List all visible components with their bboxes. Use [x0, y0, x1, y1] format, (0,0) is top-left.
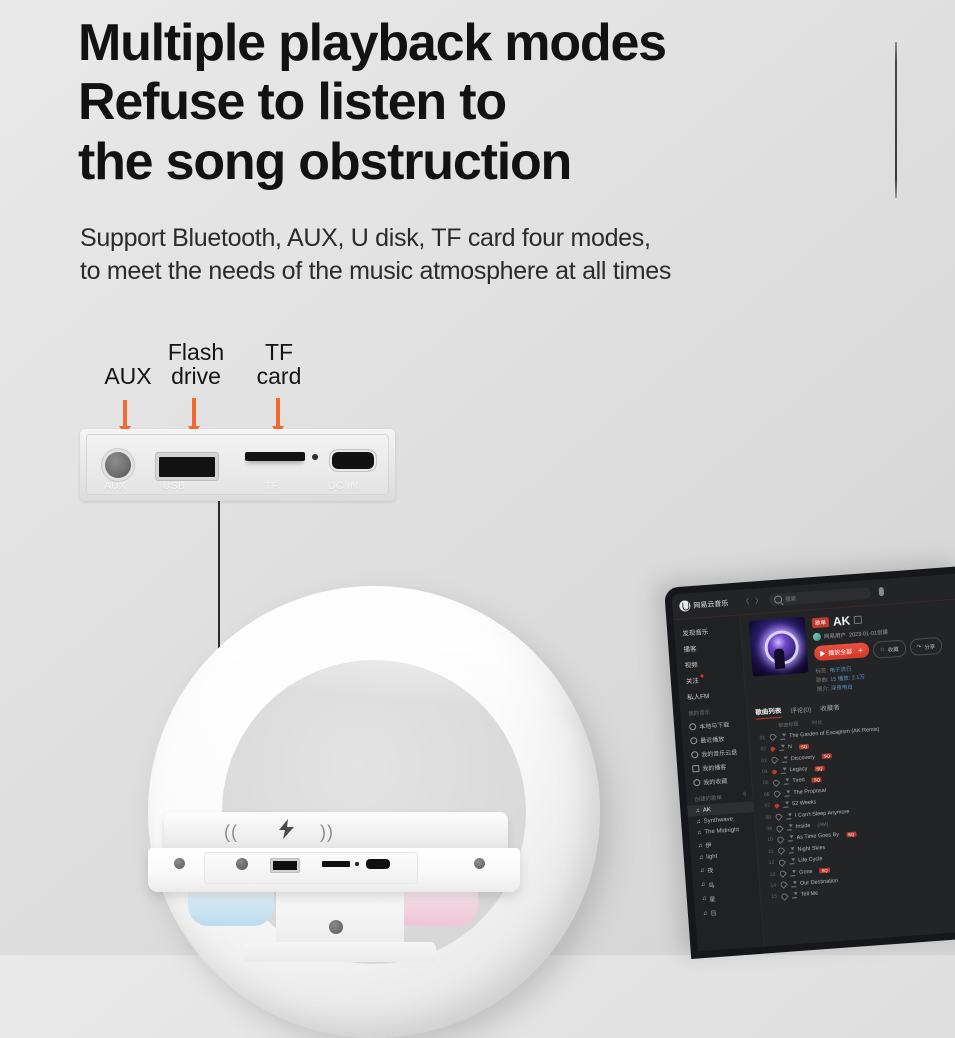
track-title: Tell Me	[801, 891, 819, 898]
track-number: 04	[760, 769, 768, 776]
sidebar-label: 播客	[683, 646, 696, 654]
download-icon[interactable]	[786, 813, 791, 819]
marketing-slide: Multiple playback modes Refuse to listen…	[0, 0, 955, 955]
product-led-indicator	[355, 862, 359, 866]
play-all-button[interactable]: 播放全部 +	[814, 642, 870, 661]
track-list: 01The Garden of Escapism (AK Remix)02NSQ…	[757, 718, 955, 903]
sidebar-label: 鸟	[708, 880, 715, 889]
sidebar-section-label: 我的音乐	[688, 708, 711, 718]
playlist-author: 网易用户	[824, 631, 847, 641]
callout-label-flash-drive-line2: drive	[155, 364, 237, 388]
folder-icon: ☆	[880, 647, 885, 653]
detail-value[interactable]: 电子流行	[829, 666, 851, 674]
music-note-icon: ♫	[697, 830, 702, 836]
charging-wave-icon-left: ( (	[224, 822, 235, 843]
avatar[interactable]	[813, 633, 822, 642]
tf-card-slot-icon	[245, 452, 305, 461]
heart-icon[interactable]	[777, 847, 785, 855]
track-title: Legacy	[789, 766, 807, 773]
download-icon[interactable]	[783, 802, 788, 808]
headline-line-2: Refuse to listen to	[78, 73, 798, 132]
track-number: 13	[767, 871, 775, 878]
pin-icon	[689, 723, 696, 730]
collect-button[interactable]: ☆ 收藏	[872, 639, 906, 658]
tab-song-list[interactable]: 歌曲列表	[755, 705, 782, 720]
quality-badge: SQ	[799, 744, 809, 750]
callout-label-aux: AUX	[92, 364, 164, 388]
download-icon[interactable]	[788, 847, 793, 853]
speaker-pod-left	[188, 886, 274, 926]
callout-label-tf-card-line2: card	[243, 364, 315, 388]
track-title: Gone	[799, 868, 813, 875]
track-number: 15	[769, 894, 777, 901]
track-number: 08	[763, 814, 771, 821]
sidebar-label: 我的收藏	[703, 776, 728, 787]
track-number: 03	[759, 758, 767, 765]
product-screw-right	[474, 858, 485, 869]
sidebar-label: light	[706, 854, 717, 861]
forward-icon[interactable]: 〉	[755, 595, 763, 605]
music-note-icon: ♫	[696, 819, 701, 825]
product-dc-in-port	[366, 859, 390, 869]
headline-line-1: Multiple playback modes	[78, 14, 798, 73]
callout-label-flash-drive: Flash drive	[155, 340, 237, 388]
product-base-foot	[244, 942, 436, 962]
heart-icon[interactable]	[773, 790, 781, 798]
track-title: Tired	[792, 778, 805, 785]
playlist-badge: 歌单	[812, 617, 830, 628]
download-icon[interactable]	[791, 881, 796, 887]
track-number: 01	[757, 735, 765, 742]
track-number: 07	[762, 803, 770, 810]
track-title: The Proposal	[793, 788, 826, 796]
back-icon[interactable]: 〈	[742, 596, 750, 606]
netease-logo-icon	[679, 600, 691, 612]
download-icon[interactable]	[784, 790, 789, 796]
track-number: 09	[764, 826, 772, 833]
aux-jack-icon	[105, 452, 131, 478]
download-icon[interactable]	[780, 768, 785, 774]
heart-icon[interactable]	[779, 869, 787, 877]
heart-icon[interactable]	[775, 824, 783, 832]
product-screw-left	[174, 858, 185, 869]
music-note-icon: ♫	[700, 868, 705, 874]
quality-badge: SQ	[846, 831, 856, 837]
led-indicator-icon	[312, 454, 318, 460]
tablet-screen: 网易云音乐 〈 〉 搜索 发现音乐 播客	[664, 566, 955, 959]
playlist-count: 6	[743, 791, 747, 799]
cloud-icon	[691, 751, 698, 758]
track-title: Discovery	[791, 754, 816, 762]
sidebar-label: 关注	[686, 678, 699, 686]
detail-value[interactable]: 深夜电台	[831, 685, 853, 693]
track-number: 14	[768, 883, 776, 890]
playlist-header: 歌单 AK 网易用户 2023-01-01创建	[749, 606, 955, 700]
app-body: 发现音乐 播客 视频 关注 私人FM 我的音乐 本地与下载 最近播放 我的音乐云…	[673, 599, 955, 951]
subheading-line-2: to meet the needs of the music atmospher…	[80, 255, 840, 288]
detail-value: 15 播放: 2.1万	[830, 675, 865, 684]
lightning-bolt-icon	[274, 818, 300, 840]
sidebar-label: 我的音乐云盘	[701, 747, 738, 759]
usb-port-icon	[155, 452, 219, 481]
podcast-icon	[692, 765, 699, 772]
track-title: Life Cycle	[798, 856, 823, 864]
nav-arrows[interactable]: 〈 〉	[742, 595, 763, 606]
heart-icon[interactable]	[770, 756, 778, 764]
sidebar-label: The Midnight	[704, 827, 739, 836]
heart-icon[interactable]	[774, 813, 782, 821]
playlist-meta: 歌单 AK 网易用户 2023-01-01创建	[811, 606, 955, 695]
sidebar-label: 视频	[685, 662, 698, 670]
clock-icon	[690, 737, 697, 744]
playlist-details: 标签: 电子流行 歌曲: 15 播放: 2.1万 简介: 深夜电台	[815, 658, 955, 695]
music-note-icon: ♫	[695, 808, 700, 814]
detail-key: 标签:	[815, 668, 828, 675]
music-note-icon: ♫	[701, 882, 706, 888]
sidebar-label: 日	[710, 908, 717, 917]
track-number: 05	[760, 780, 768, 787]
detail-key: 歌曲:	[816, 677, 829, 684]
track-number: 12	[766, 860, 774, 867]
dc-in-port-icon	[330, 450, 376, 471]
sidebar-label: 我的播客	[702, 762, 727, 773]
main-content: 歌单 AK 网易用户 2023-01-01创建	[740, 599, 955, 946]
track-number: 10	[765, 837, 773, 844]
download-icon[interactable]	[787, 824, 792, 830]
track-subtitle: (AM)	[817, 822, 828, 829]
quality-badge: SQ	[814, 765, 824, 771]
star-icon	[693, 779, 700, 786]
silkscreen-label-dc-in: DC IN	[328, 481, 358, 492]
download-icon[interactable]	[787, 836, 792, 842]
share-button[interactable]: ↷ 分享	[909, 637, 943, 656]
callout-label-flash-drive-line1: Flash	[155, 340, 237, 364]
download-icon[interactable]	[780, 733, 785, 739]
edit-icon[interactable]	[854, 616, 863, 625]
page-title: Multiple playback modes Refuse to listen…	[78, 14, 798, 192]
netease-music-app: 网易云音乐 〈 〉 搜索 发现音乐 播客	[671, 574, 955, 952]
track-title: Night Skies	[797, 845, 825, 853]
silkscreen-label-usb: USB	[163, 481, 185, 492]
product-base-button	[329, 920, 343, 934]
search-icon	[774, 595, 783, 604]
quality-badge: SQ	[812, 777, 822, 783]
tab-subscribers[interactable]: 收藏者	[820, 702, 840, 715]
sidebar-label: 伊	[705, 840, 712, 849]
music-note-icon: ♫	[703, 910, 708, 916]
heart-icon[interactable]	[769, 733, 777, 741]
track-title: N	[788, 744, 792, 750]
product-usb-port	[270, 858, 300, 873]
track-title: As Time Goes By	[796, 832, 839, 841]
cover-figure-silhouette	[774, 648, 785, 669]
search-placeholder: 搜索	[785, 594, 797, 603]
track-title: Our Destination	[800, 878, 839, 887]
sidebar-section-label: 创建的歌单	[694, 793, 722, 803]
collect-label: 收藏	[887, 644, 899, 653]
callout-label-tf-card-line1: TF	[243, 340, 315, 364]
tablet-device: 网易云音乐 〈 〉 搜索 发现音乐 播客	[664, 566, 955, 959]
track-title: Inside	[796, 823, 811, 830]
share-icon: ↷	[916, 644, 921, 650]
search-input[interactable]: 搜索	[769, 586, 872, 605]
heart-icon[interactable]	[774, 803, 780, 809]
playlist-title: AK	[832, 613, 850, 628]
sidebar-label: AK	[703, 807, 711, 814]
heart-icon[interactable]	[770, 746, 776, 752]
heart-icon[interactable]	[772, 779, 780, 787]
add-to-playlist-icon[interactable]: +	[858, 646, 863, 654]
playlist-date: 2023-01-01创建	[849, 628, 889, 639]
sidebar-label: Synthwave	[703, 816, 733, 824]
detail-key: 简介:	[817, 686, 830, 693]
sidebar-label: 最近播放	[700, 734, 725, 745]
silkscreen-label-tf: TF	[265, 481, 278, 492]
sidebar-label: 发现音乐	[682, 629, 708, 638]
sidebar-label: 星	[709, 894, 716, 903]
share-label: 分享	[924, 642, 936, 651]
play-all-label: 播放全部	[828, 646, 853, 657]
app-brand-label: 网易云音乐	[693, 598, 729, 611]
download-icon[interactable]	[792, 892, 797, 898]
quality-badge: SQ	[819, 868, 829, 874]
silkscreen-label-aux: AUX	[104, 481, 126, 492]
heart-icon[interactable]	[778, 858, 786, 866]
download-icon[interactable]	[783, 779, 788, 785]
subheading-line-1: Support Bluetooth, AUX, U disk, TF card …	[80, 222, 840, 255]
sidebar-label: 本地与下载	[699, 719, 730, 730]
charging-wave-icon-right: ( (	[322, 822, 333, 843]
column-header-title: 歌曲标题	[778, 721, 798, 729]
download-icon[interactable]	[789, 858, 794, 864]
speaker-pod-right	[392, 886, 478, 926]
notification-dot-icon	[700, 674, 703, 677]
play-icon	[820, 650, 825, 656]
headline-line-3: the song obstruction	[78, 133, 798, 192]
download-icon[interactable]	[779, 745, 784, 751]
microphone-icon[interactable]	[879, 587, 885, 596]
music-note-icon: ♫	[698, 842, 703, 848]
music-note-icon: ♫	[699, 855, 704, 861]
sidebar-label: 夜	[707, 866, 714, 875]
sidebar-label: 私人FM	[687, 693, 710, 702]
product-ring-lamp-speaker: ( ( ( (	[126, 586, 626, 958]
heart-icon[interactable]	[776, 835, 784, 843]
app-brand: 网易云音乐	[679, 597, 729, 612]
heart-icon[interactable]	[780, 892, 788, 900]
track-number: 06	[761, 792, 769, 799]
callout-label-tf-card: TF card	[243, 340, 315, 388]
track-number: 11	[765, 848, 773, 855]
heart-icon[interactable]	[779, 881, 787, 889]
tab-comments[interactable]: 评论(0)	[790, 704, 812, 718]
product-tf-slot	[322, 861, 350, 867]
product-aux-jack	[236, 858, 248, 870]
track-number: 02	[758, 746, 766, 753]
decorative-vertical-rule	[895, 42, 897, 198]
album-cover-art[interactable]	[749, 617, 809, 677]
download-icon[interactable]	[782, 756, 787, 762]
track-title: 52 Weeks	[792, 800, 817, 808]
subheading: Support Bluetooth, AUX, U disk, TF card …	[80, 222, 840, 288]
music-note-icon: ♫	[702, 896, 707, 902]
column-header-duration: 时长	[812, 719, 823, 727]
download-icon[interactable]	[790, 870, 795, 876]
heart-icon[interactable]	[771, 768, 777, 774]
quality-badge: SQ	[822, 753, 832, 759]
